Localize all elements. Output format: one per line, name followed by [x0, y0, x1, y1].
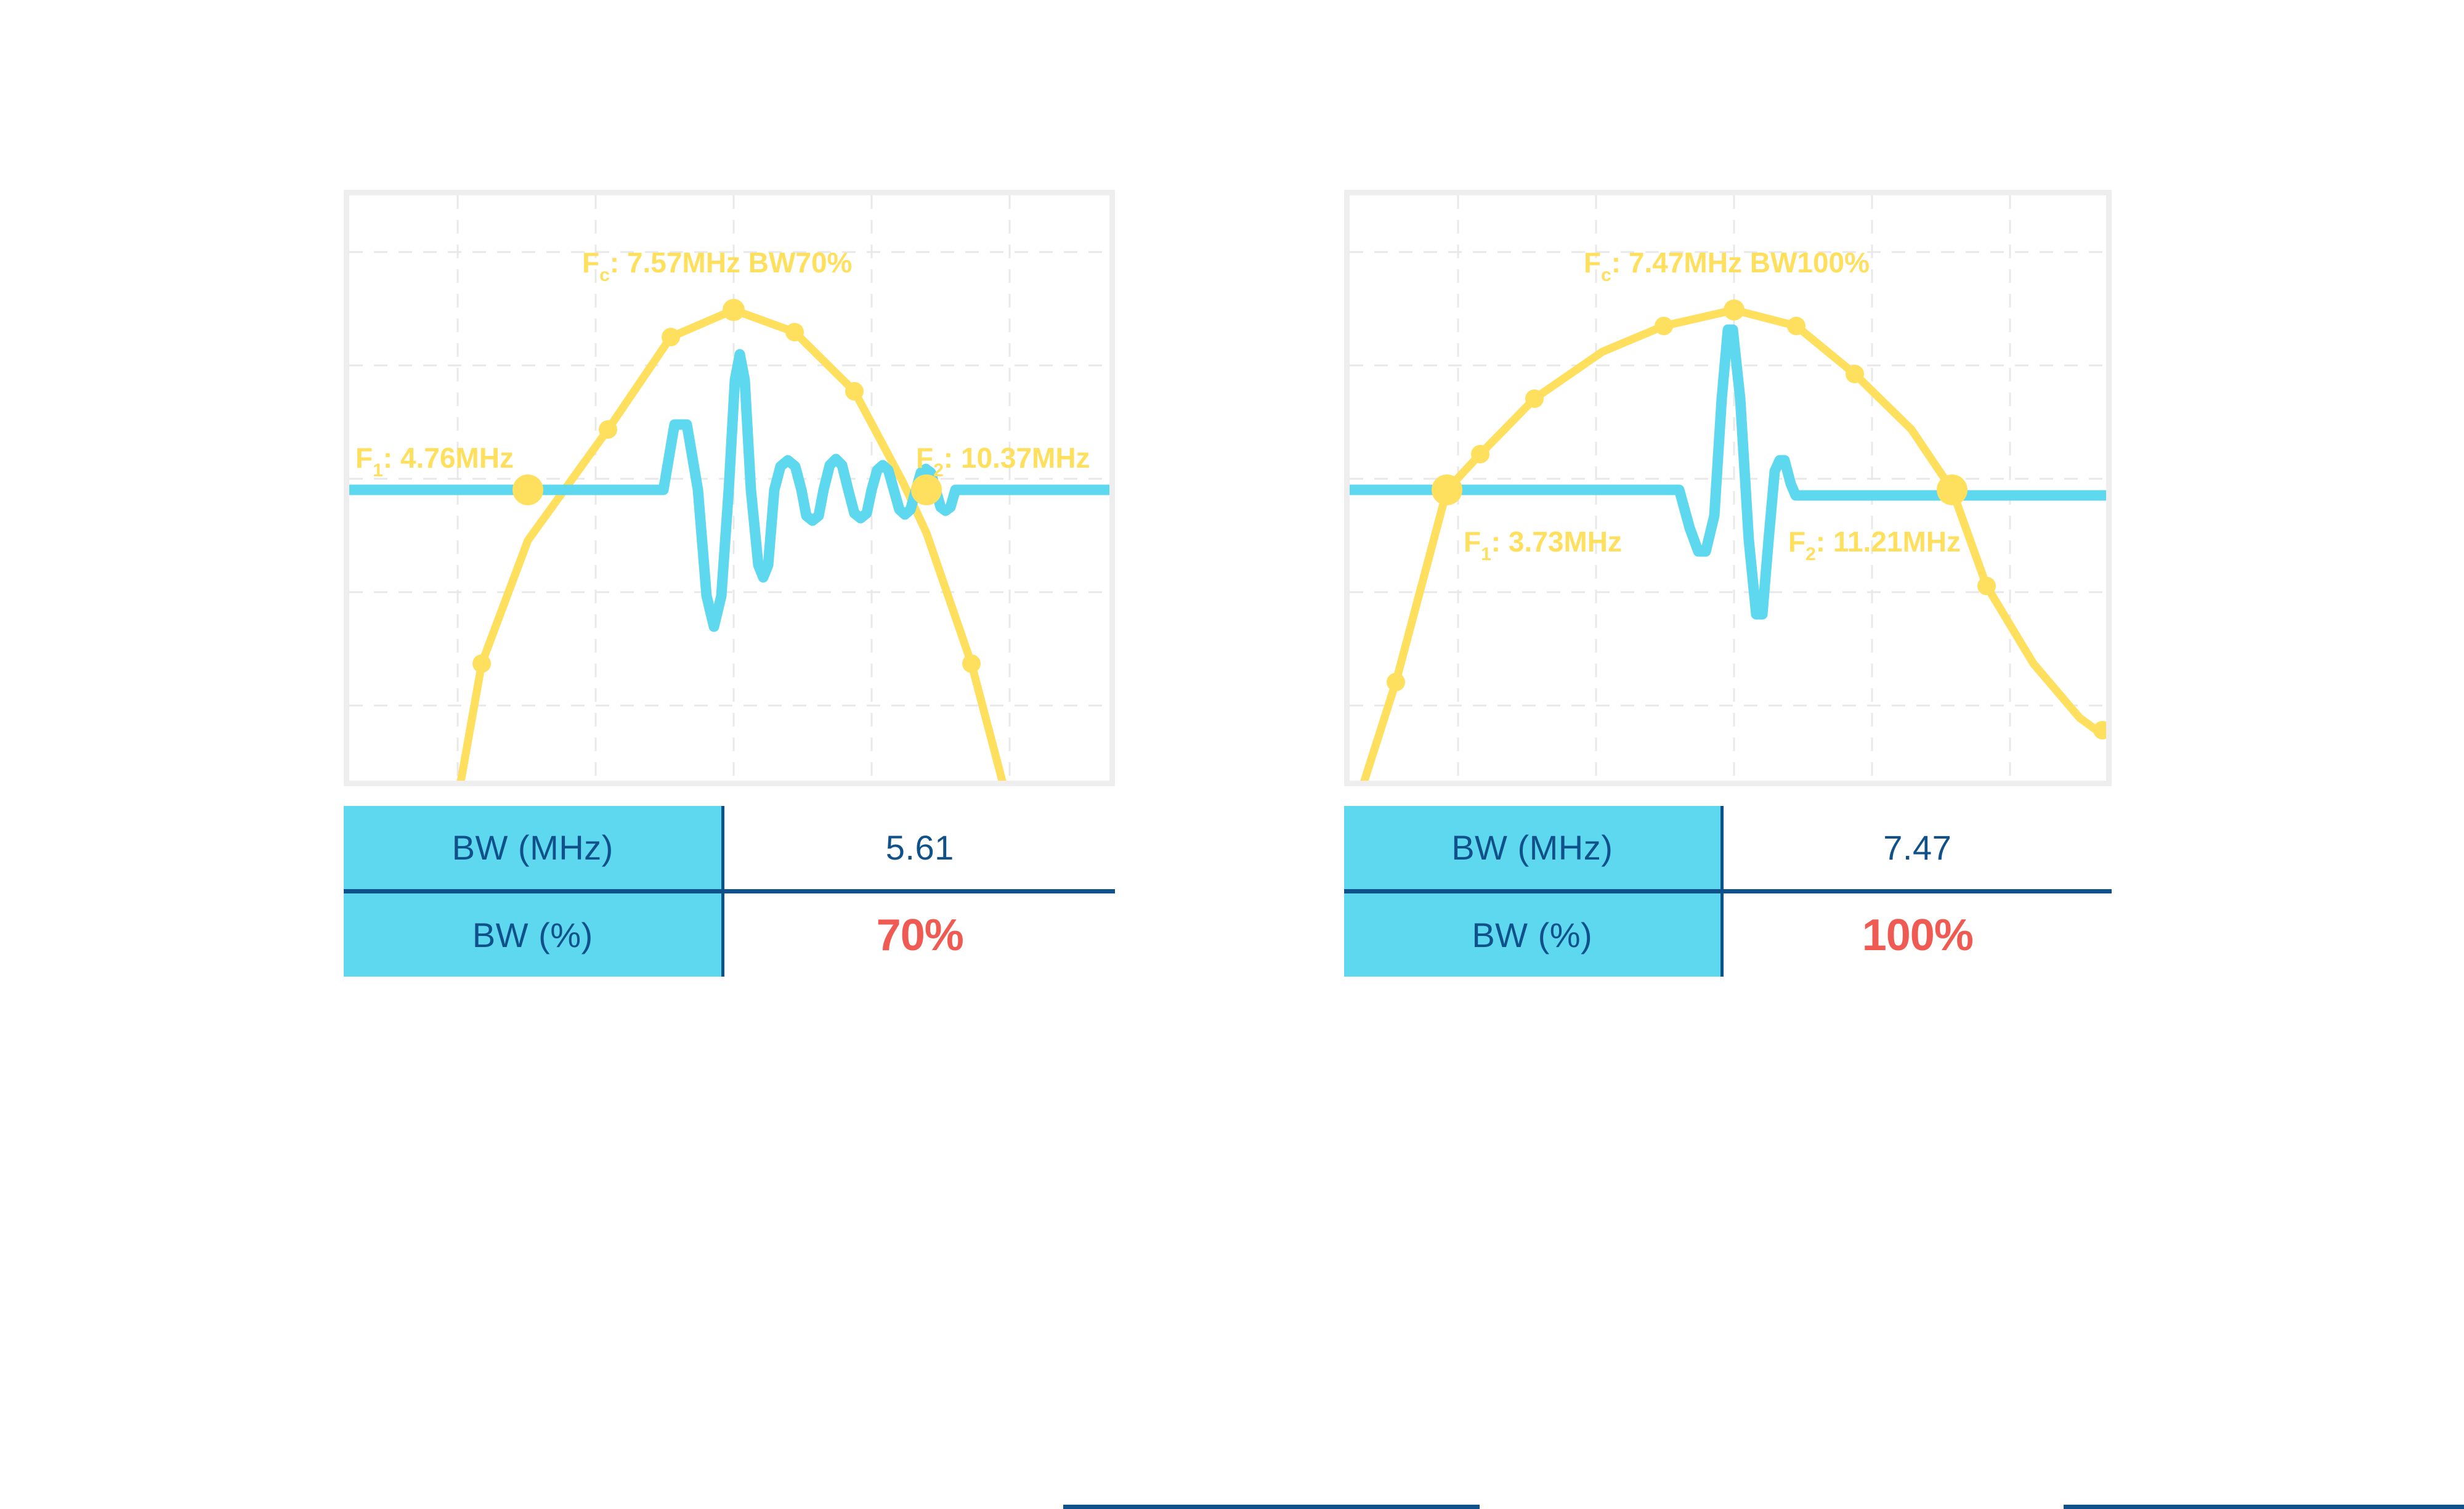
table-row: BW (MHz) 5.61: [344, 806, 1115, 892]
figure-left: Fc: 7.57MHz BW70% F1: 4.76MHz F2: 10.37M…: [344, 190, 1115, 786]
bw-table-left: BW (MHz) 5.61 BW (%) 70%: [344, 806, 1115, 977]
bw-pct-label-left: BW (%): [472, 916, 593, 954]
annotation-f1-right: F1: 3.73MHz: [1464, 526, 1622, 564]
bw-table-right: BW (MHz) 7.47 BW (%) 100%: [1344, 806, 2112, 977]
figure-container: Fc: 7.57MHz BW70% F1: 4.76MHz F2: 10.37M…: [0, 0, 2464, 1104]
plot-panel-left: Fc: 7.57MHz BW70% F1: 4.76MHz F2: 10.37M…: [344, 190, 1115, 786]
bw-mhz-value-right: 7.47: [1722, 806, 2112, 892]
bw-mhz-label-cell-right: BW (MHz): [1344, 806, 1722, 892]
marker-f2-right: [1937, 474, 1968, 505]
bw-pct-label-cell-right: BW (%): [1344, 892, 1722, 977]
spectrum-plot-left: Fc: 7.57MHz BW70% F1: 4.76MHz F2: 10.37M…: [349, 195, 1109, 781]
table-row: BW (MHz) 7.47: [1344, 806, 2112, 892]
table-row: BW (%) 70%: [344, 892, 1115, 977]
marker-f1-right: [1432, 474, 1462, 505]
annotation-f2-right: F2: 11.21MHz: [1788, 526, 1961, 564]
bw-mhz-value-left: 5.61: [723, 806, 1115, 892]
bw-pct-label-right: BW (%): [1472, 916, 1592, 954]
annotation-center-left: Fc: 7.57MHz BW70%: [582, 246, 852, 285]
bw-pct-label-cell-left: BW (%): [344, 892, 723, 977]
bw-mhz-label-right: BW (MHz): [1451, 828, 1613, 867]
bw-mhz-label-left: BW (MHz): [452, 828, 614, 867]
plot-panel-right: Fc: 7.47MHz BW100% F1: 3.73MHz F2: 11.21…: [1344, 190, 2112, 786]
bw-pct-value-left: 70%: [723, 892, 1115, 977]
bw-mhz-label-cell-left: BW (MHz): [344, 806, 723, 892]
annotation-f2-left: F2: 10.37MHz: [916, 442, 1090, 481]
table-rule-overrun-left: [1063, 1505, 1480, 1509]
annotation-f1-left: F1: 4.76MHz: [355, 442, 514, 481]
spectrum-plot-right: Fc: 7.47MHz BW100% F1: 3.73MHz F2: 11.21…: [1350, 195, 2106, 781]
waveform-left: [349, 354, 1109, 627]
annotation-center-right: Fc: 7.47MHz BW100%: [1584, 246, 1870, 285]
figure-right: Fc: 7.47MHz BW100% F1: 3.73MHz F2: 11.21…: [1344, 190, 2112, 786]
table-row: BW (%) 100%: [1344, 892, 2112, 977]
bw-pct-value-right: 100%: [1722, 892, 2112, 977]
table-rule-overrun-right: [2064, 1505, 2464, 1509]
marker-f1-left: [513, 474, 543, 505]
